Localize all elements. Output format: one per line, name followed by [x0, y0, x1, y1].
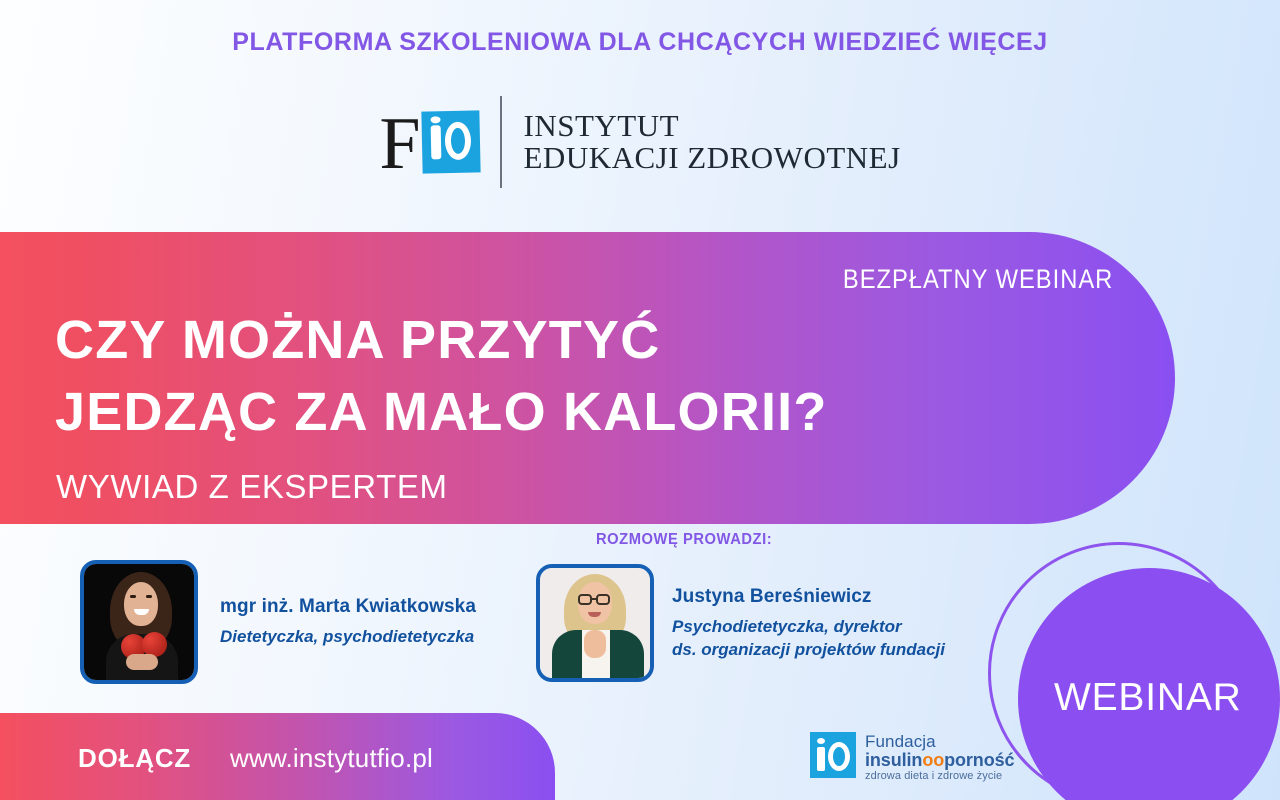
speaker-info-2: Justyna Bereśniewicz Psychodietetyczka, … [672, 586, 945, 661]
banner-title-line2: JEDZĄC ZA MAŁO KALORII? [55, 376, 828, 448]
banner-title: CZY MOŻNA PRZYTYĆ JEDZĄC ZA MAŁO KALORII… [55, 304, 828, 448]
speaker-name-2: Justyna Bereśniewicz [672, 586, 945, 608]
foundation-name-line1: Fundacja [865, 733, 1014, 750]
foundation-io-mark-icon [810, 732, 856, 778]
institute-logo: F INSTYTUT EDUKACJI ZDROWOTNEJ [0, 104, 1280, 180]
speaker-role-2: Psychodietetyczka, dyrektor ds. organiza… [672, 615, 945, 661]
website-url[interactable]: www.instytutfio.pl [230, 743, 433, 774]
hosts-label: ROZMOWĘ PROWADZI: [596, 531, 772, 549]
io-mark-icon [421, 110, 480, 173]
speaker-role-2-line1: Psychodietetyczka, dyrektor [672, 617, 902, 636]
speaker-photo-1 [80, 560, 198, 684]
logo-letter-f: F [379, 109, 420, 179]
banner-subtitle: WYWIAD Z EKSPERTEM [56, 468, 448, 506]
webinar-poster: PLATFORMA SZKOLENIOWA DLA CHCĄCYCH WIEDZ… [0, 0, 1280, 800]
join-label: DOŁĄCZ [78, 743, 191, 774]
speaker-name-1: mgr inż. Marta Kwiatkowska [220, 596, 476, 618]
banner-title-line1: CZY MOŻNA PRZYTYĆ [55, 304, 828, 376]
foundation-name-line2: insulinooporność [865, 751, 1014, 769]
institute-logo-mark: F INSTYTUT EDUKACJI ZDROWOTNEJ [379, 104, 900, 180]
join-bar: DOŁĄCZ www.instytutfio.pl [0, 713, 555, 800]
institute-name-line2: EDUKACJI ZDROWOTNEJ [524, 140, 901, 175]
foundation-logo-words: Fundacja insulinooporność zdrowa dieta i… [865, 732, 1014, 782]
speaker-info-1: mgr inż. Marta Kwiatkowska Dietetyczka, … [220, 596, 476, 648]
foundation-logo: Fundacja insulinooporność zdrowa dieta i… [810, 732, 1014, 782]
logo-divider [500, 96, 502, 188]
platform-tagline: PLATFORMA SZKOLENIOWA DLA CHCĄCYCH WIEDZ… [0, 28, 1280, 57]
speaker-role-2-line2: ds. organizacji projektów fundacji [672, 640, 945, 659]
webinar-badge-label: WEBINAR [1054, 676, 1242, 720]
foundation-line2-a: insulin [865, 750, 922, 770]
foundation-line2-c: porność [944, 750, 1014, 770]
main-banner: BEZPŁATNY WEBINAR CZY MOŻNA PRZYTYĆ JEDZ… [0, 232, 1175, 524]
speaker-role-1: Dietetyczka, psychodietetyczka [220, 625, 476, 648]
foundation-line2-b: oo [922, 750, 944, 770]
speaker-card-2: Justyna Bereśniewicz Psychodietetyczka, … [536, 564, 945, 682]
platform-tagline-text: PLATFORMA SZKOLENIOWA DLA CHCĄCYCH WIEDZ… [232, 28, 1048, 56]
institute-logo-words: INSTYTUT EDUKACJI ZDROWOTNEJ [524, 110, 901, 173]
free-webinar-badge: BEZPŁATNY WEBINAR [843, 264, 1113, 295]
foundation-tagline: zdrowa dieta i zdrowe życie [865, 771, 1014, 782]
institute-name-line1: INSTYTUT [524, 108, 680, 143]
speaker-photo-2 [536, 564, 654, 682]
speaker-card-1: mgr inż. Marta Kwiatkowska Dietetyczka, … [80, 560, 476, 684]
